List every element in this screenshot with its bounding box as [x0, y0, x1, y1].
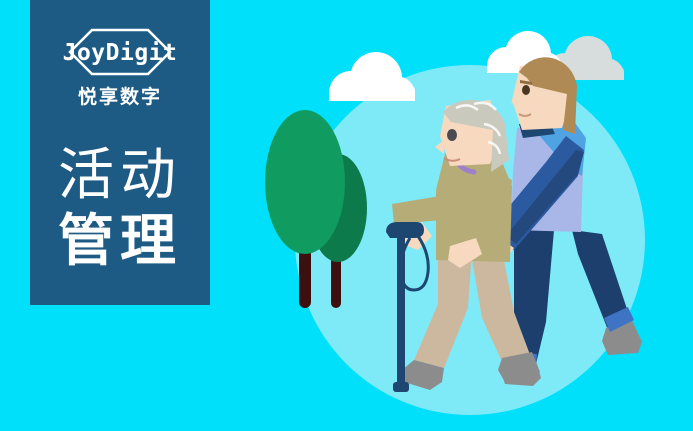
- left-text-panel: JoyDigit 悦享数字 活动 管理: [30, 0, 210, 305]
- panel-title: 活动 管理: [30, 143, 210, 275]
- page-title-line-1: 活动: [30, 143, 210, 209]
- logo-wordmark-with-hexagon: JoyDigit: [30, 26, 210, 78]
- elderly-woman-eye: [447, 129, 457, 141]
- activity-management-banner: JoyDigit 悦享数字 活动 管理: [0, 0, 693, 431]
- logo-wordmark-text: JoyDigit: [63, 40, 178, 66]
- hexagon-outline-icon: JoyDigit: [40, 26, 200, 78]
- brand-logo: JoyDigit 悦享数字: [30, 26, 210, 109]
- page-title-line-2: 管理: [30, 209, 210, 275]
- logo-subtitle: 悦享数字: [30, 82, 210, 109]
- young-man-eye: [522, 85, 530, 95]
